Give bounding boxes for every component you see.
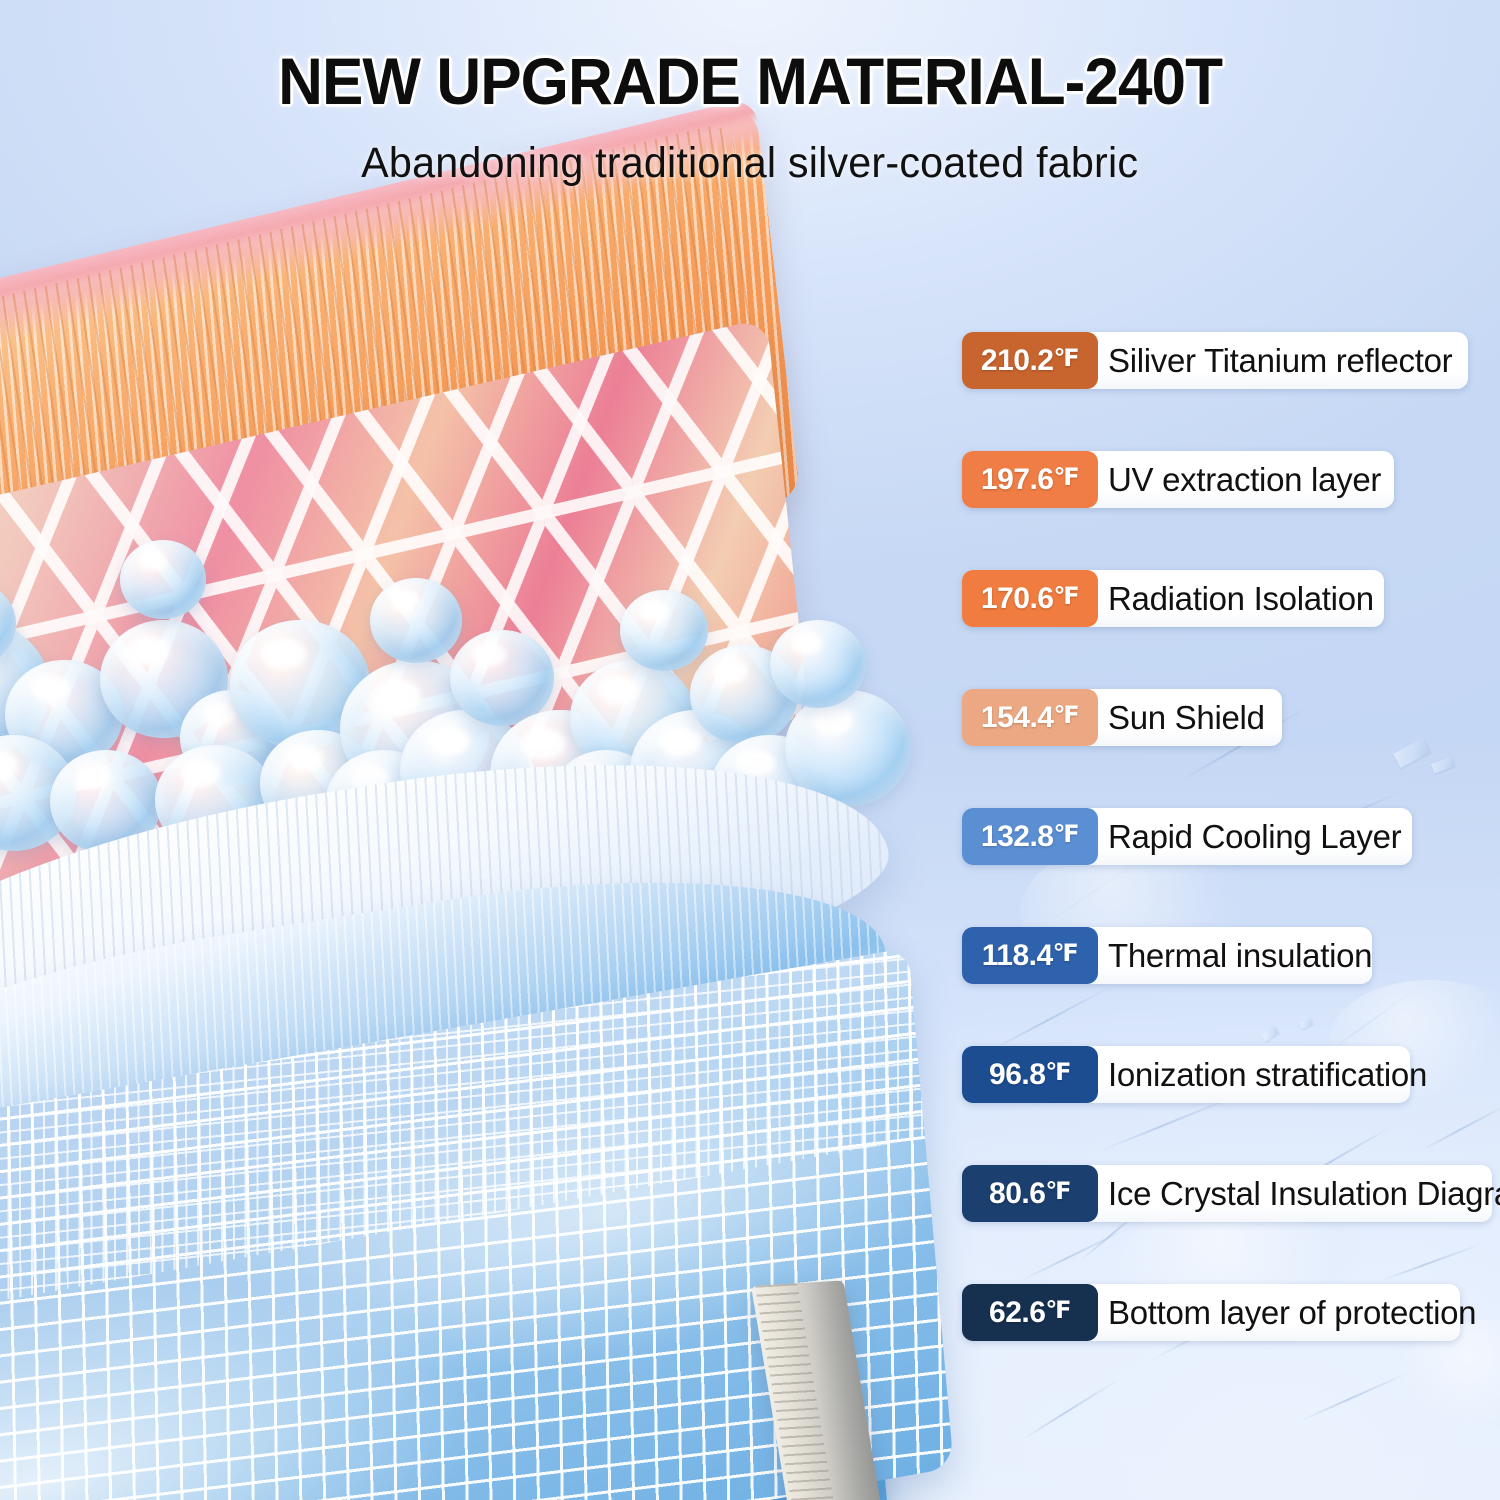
temperature-badge: 62.6℉ [962,1284,1098,1341]
page-subtitle: Abandoning traditional silver-coated fab… [0,142,1500,185]
temperature-value: 210.2 [981,344,1054,378]
layer-name-label: Ice Crystal Insulation Diagram [1098,1165,1500,1222]
degree-fahrenheit-icon: ℉ [1054,344,1080,373]
layer-name-label: Ionization stratification [1098,1046,1441,1103]
temperature-value: 197.6 [981,463,1054,497]
layer-name-label: Thermal insulation [1098,927,1386,984]
temperature-value: 62.6 [989,1296,1045,1330]
layer-label-row[interactable]: 96.8℉Ionization stratification [962,1046,1410,1103]
degree-fahrenheit-icon: ℉ [1054,463,1080,492]
ice-streak [1020,1227,1129,1281]
layer-name-label: UV extraction layer [1098,451,1395,508]
degree-fahrenheit-icon: ℉ [1045,1296,1071,1325]
page-title-text: NEW UPGRADE MATERIAL-240T [278,48,1222,114]
bubble [370,578,462,663]
temperature-badge: 118.4℉ [962,927,1098,984]
layer-label-row[interactable]: 118.4℉Thermal insulation [962,927,1372,984]
layer-name-label: Sun Shield [1098,689,1279,746]
temperature-value: 80.6 [989,1177,1045,1211]
bubble [120,540,206,619]
layer-label-row[interactable]: 197.6℉UV extraction layer [962,451,1394,508]
temperature-value: 154.4 [981,701,1054,735]
snow-chip [1261,1026,1279,1042]
ice-streak [990,984,1115,1051]
infographic-canvas: NEW UPGRADE MATERIAL-240T Abandoning tra… [0,0,1500,1500]
temperature-value: 118.4 [982,939,1053,973]
snow-chip [1393,738,1431,768]
degree-fahrenheit-icon: ℉ [1053,939,1079,968]
temperature-badge: 80.6℉ [962,1165,1098,1222]
layer-name-label: Radiation Isolation [1098,570,1388,627]
ice-streak [1300,1371,1410,1422]
layer-name-label: Bottom layer of protection [1098,1284,1490,1341]
layer-label-row[interactable]: 132.8℉Rapid Cooling Layer [962,808,1412,865]
layer-label-row[interactable]: 154.4℉Sun Shield [962,689,1282,746]
degree-fahrenheit-icon: ℉ [1045,1177,1071,1206]
layer-name-label: Siliver Titanium reflector [1098,332,1466,389]
temperature-badge: 154.4℉ [962,689,1098,746]
snow-chip [1431,757,1455,774]
temperature-value: 96.8 [989,1058,1045,1092]
degree-fahrenheit-icon: ℉ [1054,820,1080,849]
temperature-badge: 170.6℉ [962,570,1098,627]
degree-fahrenheit-icon: ℉ [1054,701,1080,730]
temperature-value: 132.8 [981,820,1054,854]
degree-fahrenheit-icon: ℉ [1045,1058,1071,1087]
snow-chip [1299,1018,1313,1029]
layer-name-label: Rapid Cooling Layer [1098,808,1415,865]
temperature-value: 170.6 [981,582,1054,616]
ice-streak [1420,1103,1500,1152]
bubble [450,630,554,726]
temperature-badge: 132.8℉ [962,808,1098,865]
page-subtitle-text: Abandoning traditional silver-coated fab… [361,142,1138,185]
temperature-badge: 210.2℉ [962,332,1098,389]
temperature-badge: 197.6℉ [962,451,1098,508]
degree-fahrenheit-icon: ℉ [1054,582,1080,611]
page-title: NEW UPGRADE MATERIAL-240T [0,48,1500,114]
layer-label-row[interactable]: 62.6℉Bottom layer of protection [962,1284,1460,1341]
layer-label-row[interactable]: 170.6℉Radiation Isolation [962,570,1384,627]
fabric-layer-illustration [0,190,990,1480]
bubble [620,590,708,671]
ice-streak [1019,1377,1122,1442]
temperature-badge: 96.8℉ [962,1046,1098,1103]
layer-label-row[interactable]: 80.6℉Ice Crystal Insulation Diagram [962,1165,1492,1222]
ice-streak [1380,1242,1484,1282]
bubble [770,620,866,708]
layer-label-row[interactable]: 210.2℉Siliver Titanium reflector [962,332,1468,389]
